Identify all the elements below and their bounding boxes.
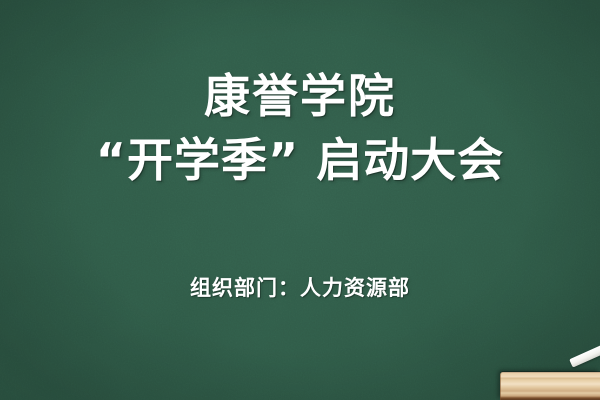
title-line-1: 康誉学院 [0,64,600,128]
chalk-tray-lip [500,372,600,400]
slide-canvas: 康誉学院 “开学季” 启动大会 组织部门：人力资源部 [0,0,600,400]
slide-subtitle-organizer: 组织部门：人力资源部 [0,274,600,302]
slide-title: 康誉学院 “开学季” 启动大会 [0,64,600,192]
title-line-2: “开学季” 启动大会 [0,128,600,192]
chalk-tray-icon [500,372,600,400]
slide-content: 康誉学院 “开学季” 启动大会 组织部门：人力资源部 [0,0,600,400]
